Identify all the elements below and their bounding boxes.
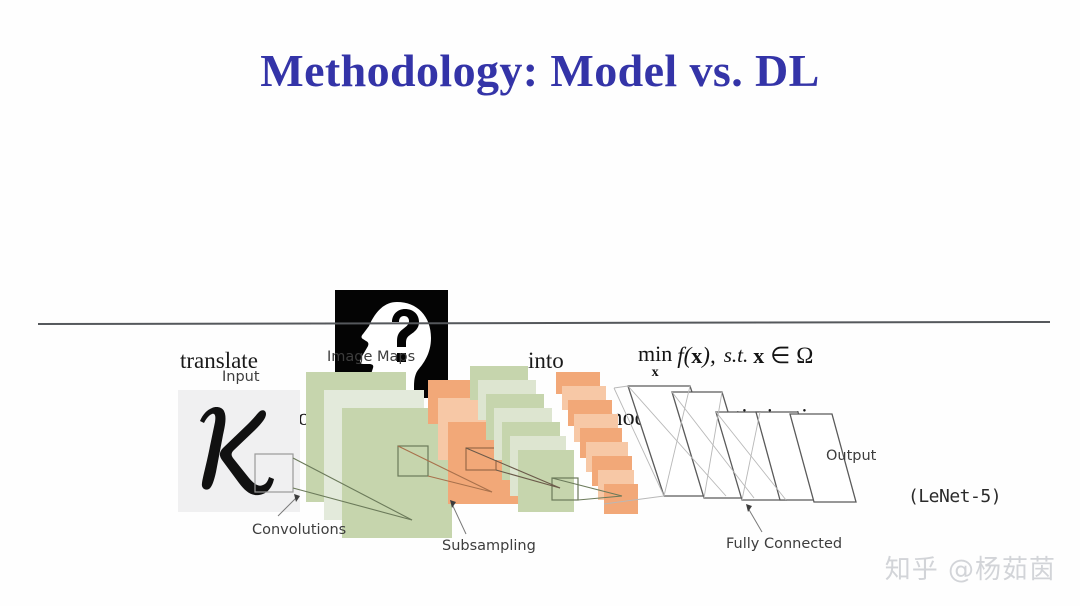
watermark: 知乎 @杨茹茵 [885, 549, 1056, 586]
slide-canvas: Methodology: Model vs. DL translate doma… [0, 0, 1080, 606]
page-title: Methodology: Model vs. DL [0, 44, 1080, 97]
concept-row: translate domain knowledge into min x f(… [0, 140, 1080, 305]
fully-connected-label: Fully Connected [726, 504, 842, 552]
input-label-text: Input [222, 369, 260, 385]
svg-text:Subsampling: Subsampling [442, 538, 536, 554]
output-label: Output [826, 448, 877, 464]
svg-text:Output: Output [826, 448, 877, 464]
svg-text:Image Maps: Image Maps [327, 349, 415, 365]
svg-text:Fully Connected: Fully Connected [726, 536, 842, 552]
svg-text:Convolutions: Convolutions [252, 522, 346, 538]
input-panel: Input [178, 369, 300, 512]
section-divider [38, 321, 1050, 325]
image-maps-label: Image Maps [327, 349, 415, 365]
lenet-caption: (LeNet-5) [908, 486, 1001, 507]
